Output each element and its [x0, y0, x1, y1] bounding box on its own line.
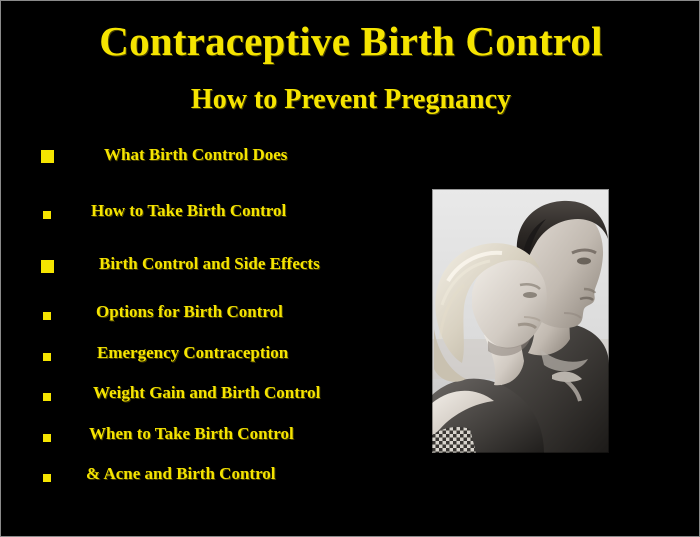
- list-item[interactable]: How to Take Birth Control: [1, 197, 431, 253]
- square-bullet-icon: [43, 353, 51, 361]
- page-subtitle: How to Prevent Pregnancy: [1, 83, 700, 117]
- list-item[interactable]: When to Take Birth Control: [1, 425, 431, 465]
- couple-photo: [432, 189, 609, 453]
- list-item[interactable]: Weight Gain and Birth Control: [1, 384, 431, 425]
- list-item-label: What Birth Control Does: [104, 145, 287, 165]
- square-bullet-icon: [43, 393, 51, 401]
- list-item[interactable]: Options for Birth Control: [1, 303, 431, 344]
- couple-photo-graphic: [432, 189, 609, 453]
- presentation-slide: Contraceptive Birth Control How to Preve…: [0, 0, 700, 537]
- subtitle-container: How to Prevent Pregnancy: [1, 83, 700, 117]
- list-item[interactable]: & Acne and Birth Control: [1, 465, 431, 505]
- page-title: Contraceptive Birth Control: [1, 17, 700, 65]
- square-bullet-icon: [43, 211, 51, 219]
- square-bullet-icon: [41, 260, 54, 273]
- square-bullet-icon: [43, 474, 51, 482]
- list-item-label: & Acne and Birth Control: [86, 464, 276, 484]
- list-item-label: Options for Birth Control: [96, 302, 283, 322]
- list-item-label: Emergency Contraception: [97, 343, 288, 363]
- bullet-list: What Birth Control Does How to Take Birt…: [1, 141, 431, 505]
- list-item[interactable]: Emergency Contraception: [1, 344, 431, 384]
- square-bullet-icon: [43, 312, 51, 320]
- list-item-label: When to Take Birth Control: [89, 424, 294, 444]
- list-item-label: Weight Gain and Birth Control: [93, 383, 320, 403]
- list-item[interactable]: Birth Control and Side Effects: [1, 253, 431, 303]
- list-item[interactable]: What Birth Control Does: [1, 141, 431, 197]
- list-item-label: How to Take Birth Control: [91, 201, 286, 221]
- square-bullet-icon: [41, 150, 54, 163]
- title-container: Contraceptive Birth Control: [1, 17, 700, 65]
- square-bullet-icon: [43, 434, 51, 442]
- list-item-label: Birth Control and Side Effects: [99, 254, 320, 274]
